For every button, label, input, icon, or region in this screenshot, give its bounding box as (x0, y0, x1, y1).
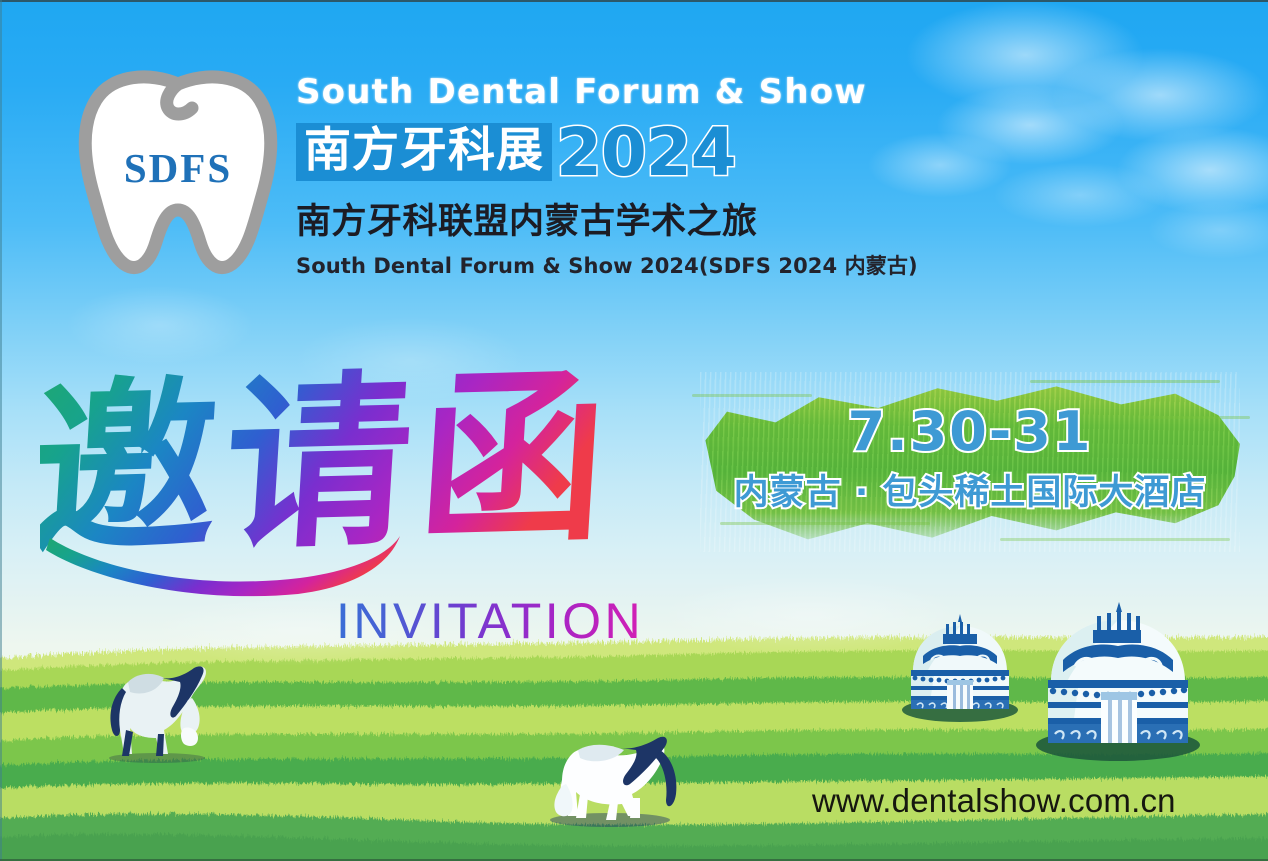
frame-edge-top (0, 0, 1268, 2)
event-year: 2024 (556, 122, 736, 185)
brush-wisp (720, 522, 930, 525)
event-dates: 7.30-31 (700, 400, 1240, 463)
brush-wisp (1030, 380, 1220, 383)
subtitle-chinese: 南方牙科联盟内蒙古学术之旅 (296, 193, 918, 244)
title-chinese: 南方牙科展 (296, 123, 552, 180)
subtitle-english: South Dental Forum & Show 2024(SDFS 2024… (296, 250, 918, 280)
title-row-chinese-year: 南方牙科展 2024 (296, 118, 918, 181)
calligraphy-svg: 邀请函 (40, 340, 680, 600)
title-english: South Dental Forum & Show (296, 72, 918, 112)
poster-header: South Dental Forum & Show 南方牙科展 2024 南方牙… (296, 72, 918, 280)
yurt-large (1036, 602, 1200, 761)
date-venue-brush-block: 7.30-31 内蒙古 · 包头稀土国际大酒店 (700, 372, 1240, 552)
frame-edge-left (0, 0, 2, 861)
brush-wisp (692, 394, 812, 397)
event-venue: 内蒙古 · 包头稀土国际大酒店 (700, 464, 1240, 515)
sdfs-logo[interactable]: SDFS (72, 66, 284, 280)
yurt-small (902, 614, 1018, 722)
brush-wisp (1000, 538, 1230, 541)
invitation-poster: SDFS South Dental Forum & Show 南方牙科展 202… (0, 0, 1268, 861)
calligraphy-glyphs: 邀请函 (40, 348, 621, 580)
calligraphy-invitation-cn: 邀请函 (40, 340, 680, 600)
logo-initials: SDFS (72, 144, 284, 192)
website-url[interactable]: www.dentalshow.com.cn (812, 782, 1176, 820)
invitation-english: INVITATION (336, 592, 644, 650)
